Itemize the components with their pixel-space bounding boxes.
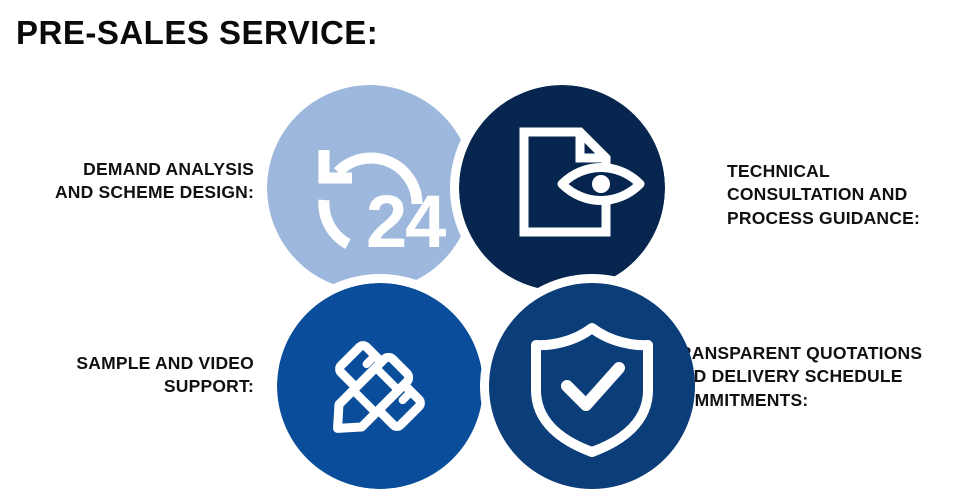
rotate-24-hours-icon-text: 24	[366, 180, 446, 263]
label-sample-line-1: SAMPLE AND VIDEO	[0, 352, 254, 375]
page-title: PRE-SALES SERVICE:	[16, 14, 378, 52]
circle-sample-video-support[interactable]	[277, 283, 483, 489]
circle-transparent-quotations[interactable]	[489, 283, 695, 489]
slide-canvas: PRE-SALES SERVICE: DEMAND ANALYSIS AND S…	[0, 0, 960, 498]
circle-transparent-quotations-shape	[489, 283, 695, 489]
label-quotation-line-1: TRANSPARENT QUOTATIONS	[668, 342, 960, 365]
label-demand-analysis: DEMAND ANALYSIS AND SCHEME DESIGN:	[0, 158, 254, 205]
label-transparent-quotations: TRANSPARENT QUOTATIONS AND DELIVERY SCHE…	[668, 342, 960, 412]
label-technical-consultation: TECHNICAL CONSULTATION AND PROCESS GUIDA…	[727, 160, 952, 230]
label-technical-line-1: TECHNICAL	[727, 160, 952, 183]
label-technical-line-2: CONSULTATION AND	[727, 183, 952, 206]
label-quotation-line-2: AND DELIVERY SCHEDULE	[668, 365, 960, 388]
label-demand-line-2: AND SCHEME DESIGN:	[0, 181, 254, 204]
circle-cluster: 24	[262, 80, 702, 494]
circle-technical-consultation[interactable]	[459, 85, 665, 291]
label-demand-line-1: DEMAND ANALYSIS	[0, 158, 254, 181]
label-technical-line-3: PROCESS GUIDANCE:	[727, 207, 952, 230]
label-quotation-line-3: COMMITMENTS:	[668, 389, 960, 412]
label-sample-video-support: SAMPLE AND VIDEO SUPPORT:	[0, 352, 254, 399]
label-sample-line-2: SUPPORT:	[0, 375, 254, 398]
circle-demand-analysis[interactable]: 24	[267, 85, 473, 291]
